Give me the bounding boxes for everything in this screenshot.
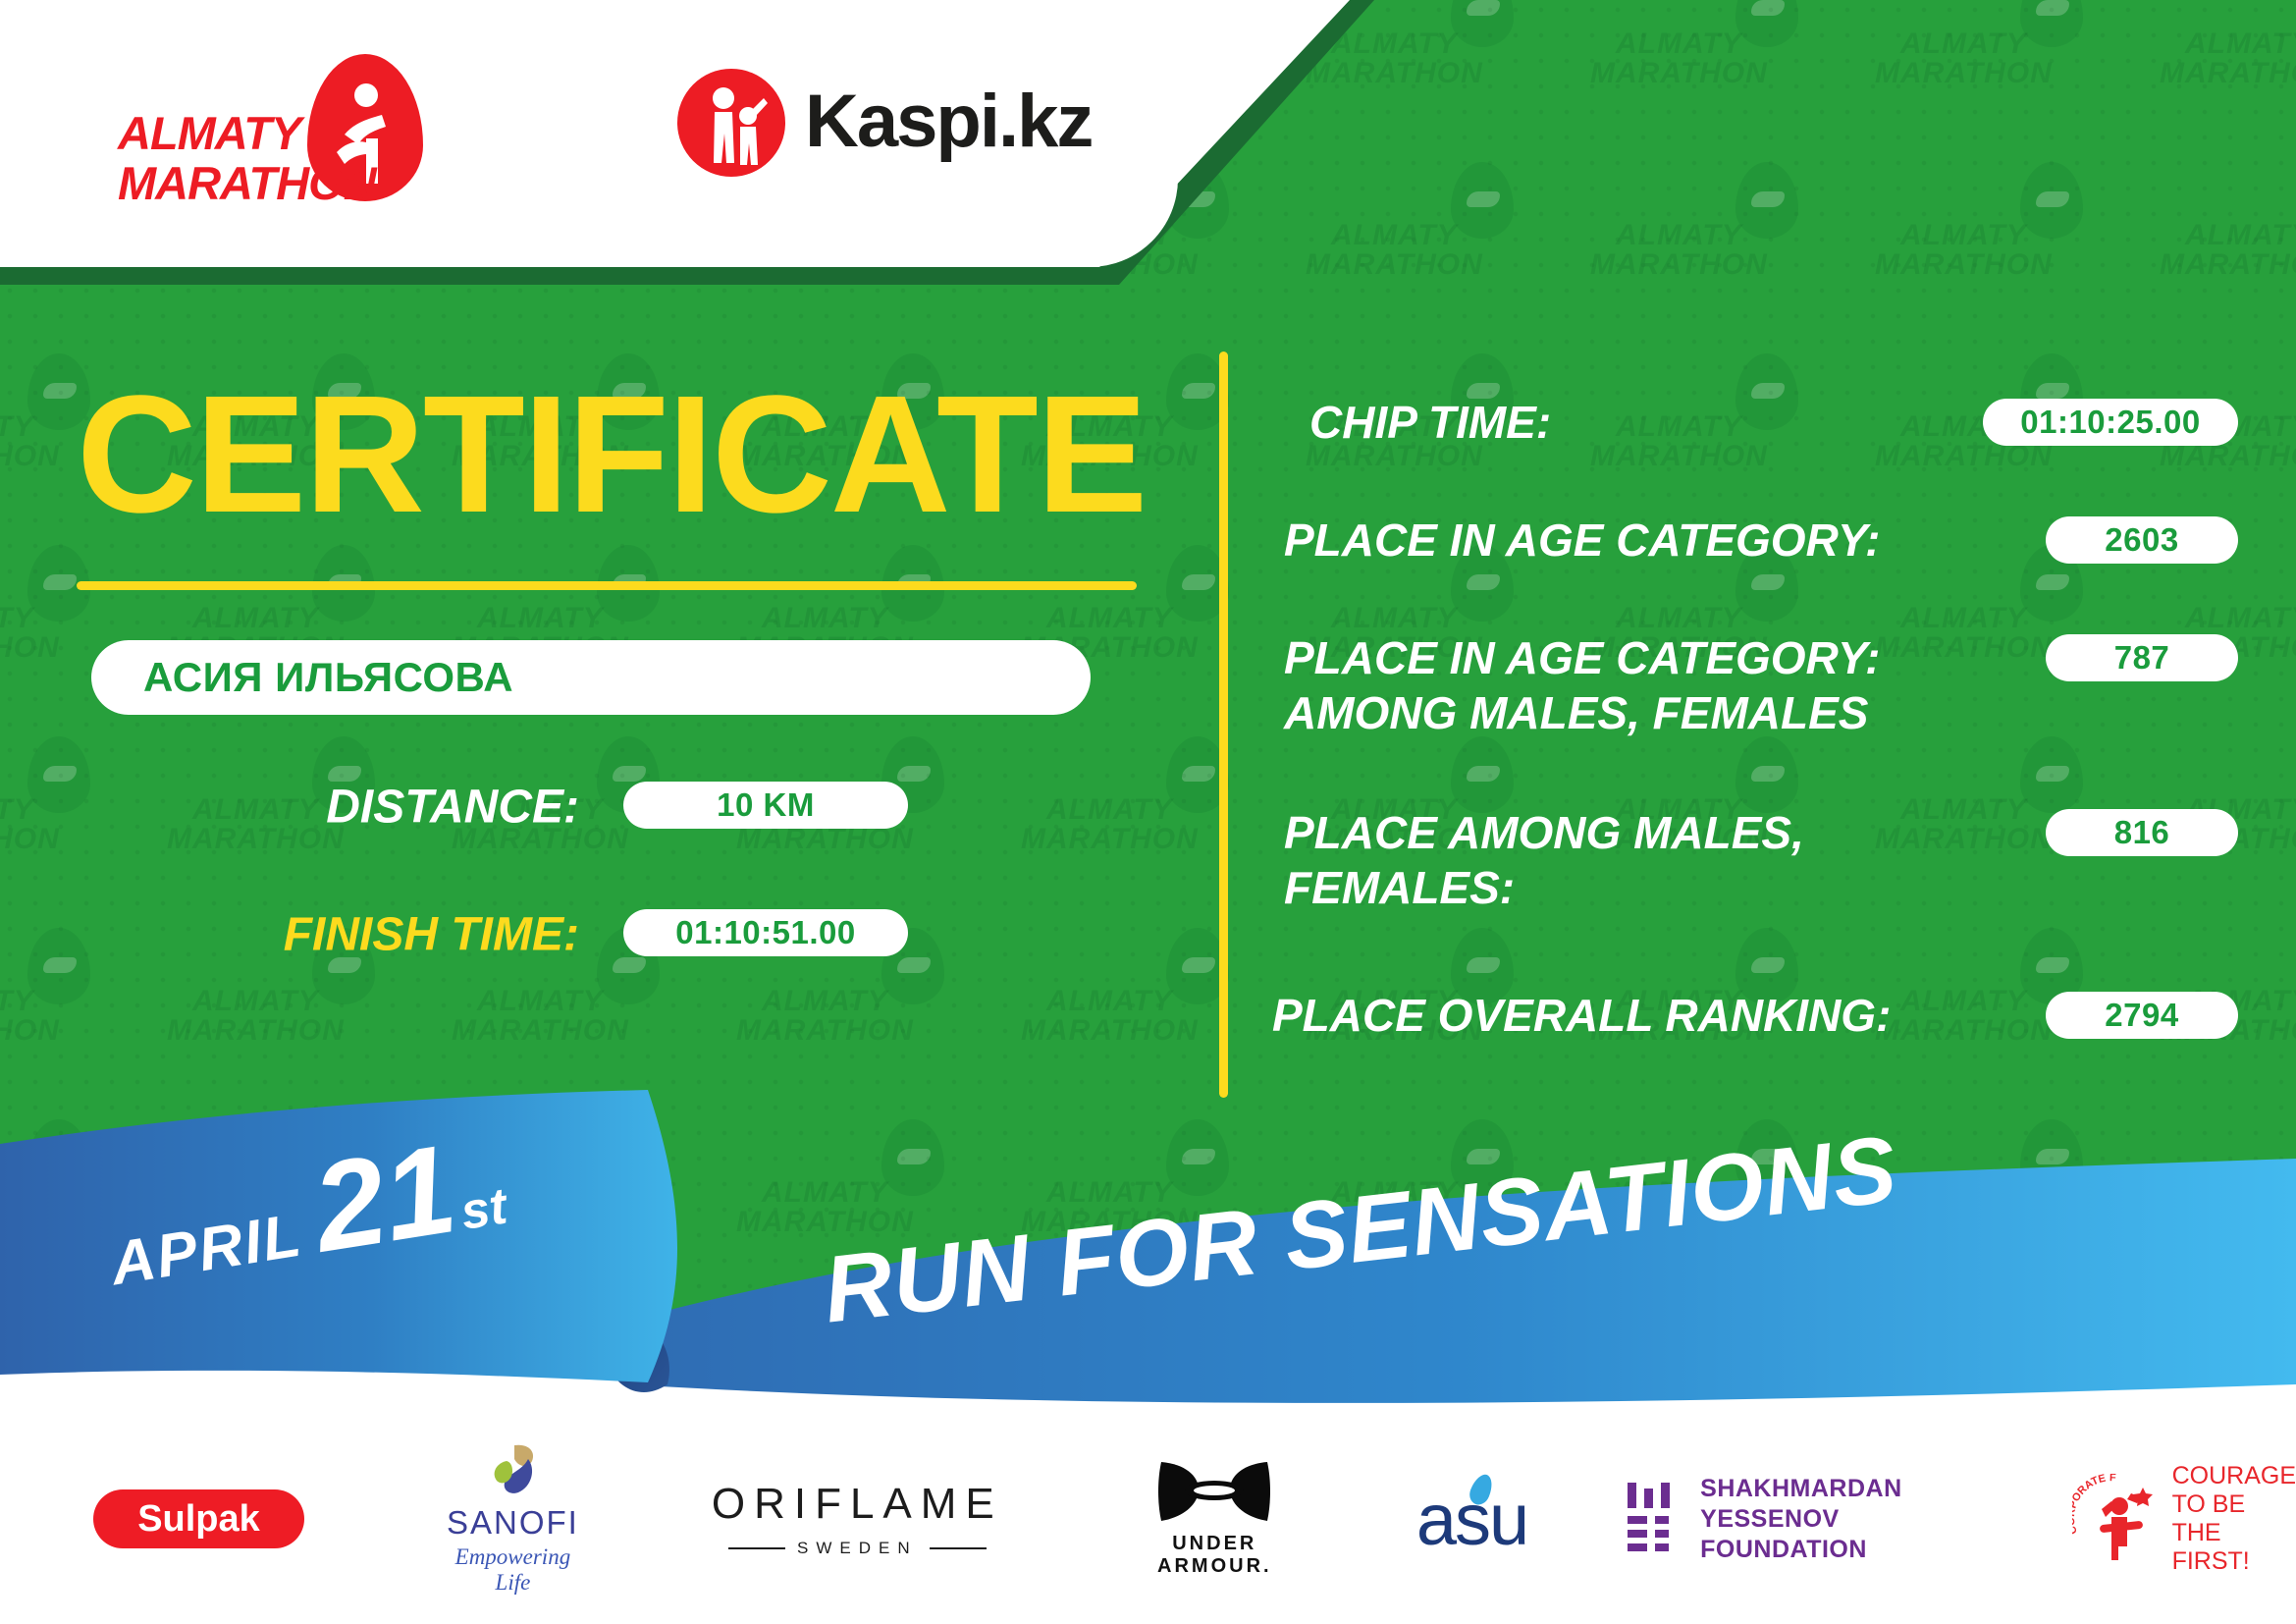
- place-gender-label-line2: FEMALES:: [1284, 860, 1804, 915]
- sanofi-wordmark: SANOFI: [447, 1504, 579, 1542]
- ribbon-month: APRIL: [106, 1200, 307, 1299]
- courage-line-2: TO BE: [2172, 1490, 2296, 1519]
- place-overall-label: PLACE OVERALL RANKING:: [1272, 988, 1891, 1043]
- almaty-marathon-logo: ALMATY MARATHON: [118, 54, 442, 191]
- yessenov-wordmark: SHAKHMARDAN YESSENOV FOUNDATION: [1700, 1474, 1968, 1565]
- sponsor-asu: asu: [1416, 1478, 1527, 1561]
- stat-row-place-age: PLACE IN AGE CATEGORY: 2603: [1266, 491, 2238, 617]
- participant-name-field: АСИЯ ИЛЬЯСОВА: [91, 640, 1091, 715]
- courage-line-1: COURAGE: [2172, 1462, 2296, 1490]
- sanofi-tagline: Empowering Life: [447, 1544, 579, 1596]
- ribbon-day-suffix: st: [456, 1176, 510, 1241]
- yessenov-mark-icon: [1626, 1481, 1679, 1557]
- stat-row-place-overall: PLACE OVERALL RANKING: 2794: [1266, 976, 2238, 1084]
- yessenov-bars-icon: [1626, 1481, 1679, 1557]
- sponsor-yessenov-foundation: SHAKHMARDAN YESSENOV FOUNDATION: [1626, 1474, 1968, 1565]
- sponsor-sulpak: Sulpak: [93, 1489, 304, 1548]
- oriflame-sweden-text: SWEDEN: [797, 1539, 918, 1558]
- under-armour-wordmark: UNDER ARMOUR.: [1131, 1533, 1299, 1578]
- asu-wordmark: asu: [1416, 1478, 1527, 1561]
- place-age-label: PLACE IN AGE CATEGORY:: [1284, 513, 1880, 568]
- certificate-title: CERTIFICATE: [77, 371, 1146, 538]
- place-gender-value: 816: [2046, 809, 2238, 856]
- sulpak-logo: Sulpak: [93, 1489, 304, 1548]
- under-armour-glyph-icon: [1155, 1460, 1273, 1525]
- chip-time-label: CHIP TIME:: [1309, 395, 1551, 450]
- courage-mark-icon: CORPORATE FUND: [2072, 1474, 2159, 1564]
- sponsor-sanofi: SANOFI Empowering Life: [447, 1443, 579, 1596]
- almaty-marathon-wordmark: ALMATY MARATHON: [118, 108, 376, 208]
- under-armour-mark-icon: [1155, 1460, 1273, 1525]
- stat-row-place-gender: PLACE AMONG MALES, FEMALES: 816: [1266, 793, 2238, 976]
- finish-time-label: FINISH TIME:: [284, 908, 579, 962]
- courage-runner-icon: CORPORATE FUND: [2072, 1474, 2159, 1564]
- oriflame-subline: SWEDEN: [712, 1539, 1003, 1558]
- field-finish-time: FINISH TIME:: [265, 908, 579, 961]
- place-age-gender-label-line1: PLACE IN AGE CATEGORY:: [1284, 630, 1880, 685]
- oriflame-rule-left: [728, 1547, 785, 1549]
- certificate-page: ALMATYMARATHONALMATYMARATHONALMATYMARATH…: [0, 0, 2296, 1624]
- stat-row-chip-time: CHIP TIME: 01:10:25.00: [1266, 373, 2238, 491]
- place-gender-label-line1: PLACE AMONG MALES,: [1284, 805, 1804, 860]
- vertical-divider: [1219, 352, 1228, 1098]
- sanofi-glyph-icon: [485, 1443, 540, 1500]
- kaspi-wordmark: Kaspi.kz: [805, 79, 1092, 164]
- field-distance: DISTANCE:: [265, 781, 579, 834]
- oriflame-rule-right: [930, 1547, 987, 1549]
- courage-line-3: THE FIRST!: [2172, 1519, 2296, 1576]
- ribbon-banner: APRIL 21 st RUN FOR SENSATIONS: [0, 1090, 2296, 1414]
- chip-time-value: 01:10:25.00: [1983, 399, 2238, 446]
- kaspi-people-circle-icon: [677, 69, 785, 177]
- logo-line-2: MARATHON: [118, 158, 376, 208]
- yessenov-line-1: SHAKHMARDAN YESSENOV: [1700, 1474, 1968, 1535]
- oriflame-wordmark: ORIFLAME: [712, 1480, 1003, 1529]
- sanofi-mark-icon: [485, 1443, 540, 1500]
- finish-time-value: 01:10:51.00: [623, 909, 908, 956]
- logo-line-1: ALMATY: [118, 108, 376, 158]
- distance-label: DISTANCE:: [326, 781, 579, 835]
- courage-wordmark: COURAGE TO BE THE FIRST!: [2172, 1462, 2296, 1576]
- place-age-value: 2603: [2046, 516, 2238, 564]
- stat-row-place-age-gender: PLACE IN AGE CATEGORY: AMONG MALES, FEMA…: [1266, 617, 2238, 793]
- yessenov-line-2: FOUNDATION: [1700, 1535, 1968, 1565]
- sponsor-courage-fund: CORPORATE FUND COURAGE TO BE THE FIRST!: [2072, 1462, 2296, 1576]
- kaspi-figures-icon: [677, 69, 785, 177]
- place-gender-label: PLACE AMONG MALES, FEMALES:: [1284, 805, 1804, 915]
- title-underline: [77, 581, 1137, 590]
- participant-name-value: АСИЯ ИЛЬЯСОВА: [143, 654, 513, 701]
- sponsor-bar: Sulpak SANOFI Empowering Life ORIFLAME S…: [0, 1414, 2296, 1624]
- place-age-gender-value: 787: [2046, 634, 2238, 681]
- place-age-gender-label-line2: AMONG MALES, FEMALES: [1284, 685, 1880, 740]
- place-age-gender-label: PLACE IN AGE CATEGORY: AMONG MALES, FEMA…: [1284, 630, 1880, 740]
- stats-panel: CHIP TIME: 01:10:25.00 PLACE IN AGE CATE…: [1266, 373, 2238, 1084]
- place-overall-value: 2794: [2046, 992, 2238, 1039]
- sponsor-oriflame: ORIFLAME SWEDEN: [712, 1480, 1003, 1558]
- sponsor-under-armour: UNDER ARMOUR.: [1131, 1460, 1299, 1578]
- ribbon-day: 21: [304, 1116, 465, 1280]
- kaspi-logo: Kaspi.kz: [677, 61, 1099, 184]
- distance-value: 10 KM: [623, 782, 908, 829]
